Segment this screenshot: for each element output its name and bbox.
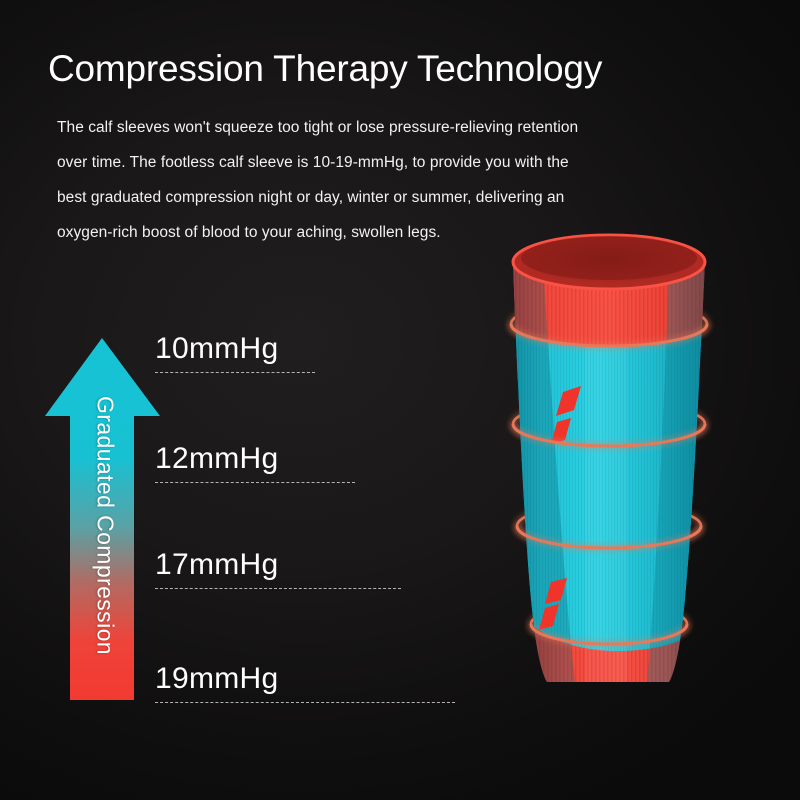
pressure-leader-line [155, 372, 315, 373]
graduated-compression-arrow: Graduated Compression [44, 332, 166, 704]
pressure-leader-line [155, 702, 455, 703]
pressure-level-label: 10mmHg [155, 332, 279, 366]
page-title: Compression Therapy Technology [48, 48, 668, 90]
pressure-leader-line [155, 482, 355, 483]
pressure-level-label: 12mmHg [155, 442, 279, 476]
arrow-up-icon [44, 332, 166, 704]
pressure-leader-line [155, 588, 401, 589]
product-illustration-calf-sleeve: AONIJIE [455, 196, 775, 716]
pressure-level-label: 17mmHg [155, 548, 279, 582]
calf-sleeve-graphic [455, 196, 775, 716]
pressure-level-label: 19mmHg [155, 662, 279, 696]
infographic-poster: Compression Therapy Technology The calf … [0, 0, 800, 800]
